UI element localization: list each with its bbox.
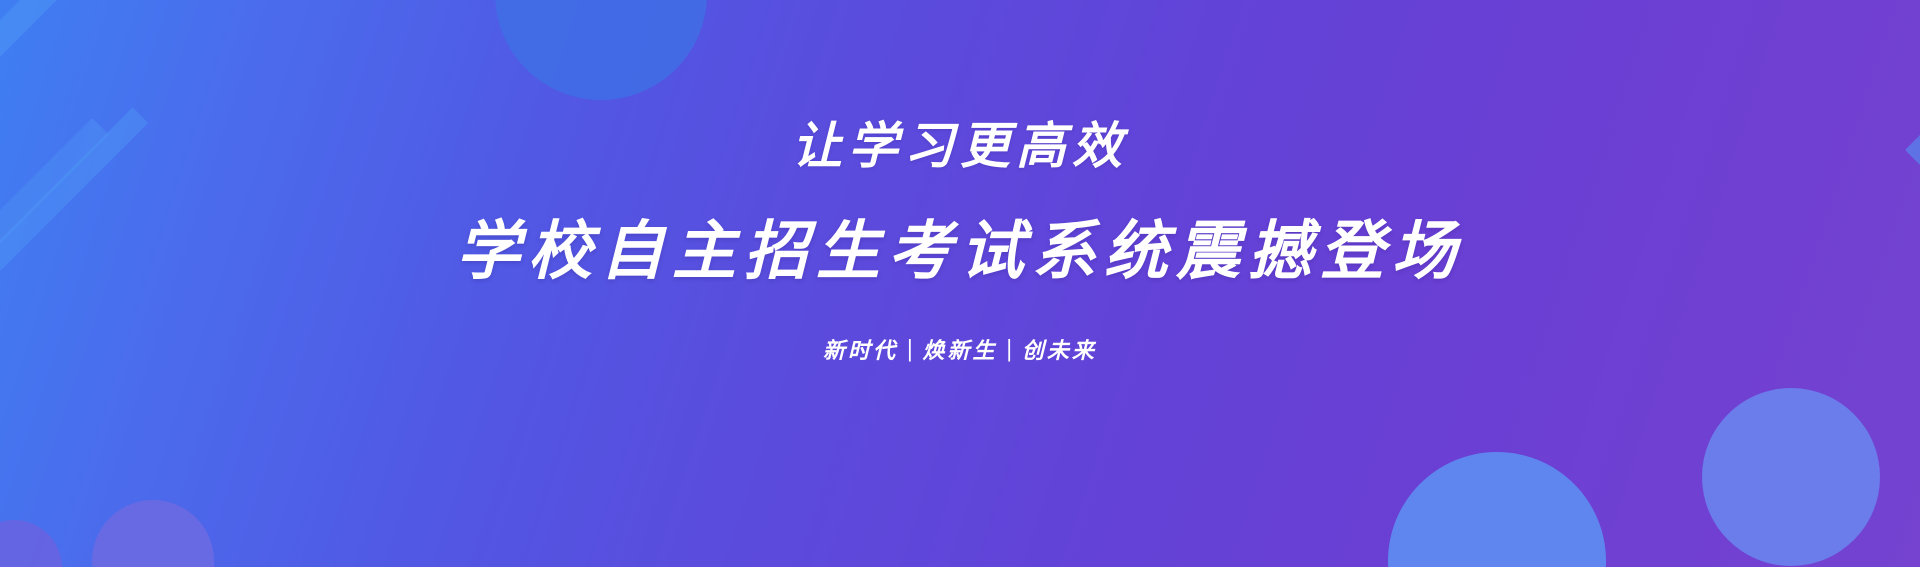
subtitle-part-2: 焕新生: [922, 333, 997, 365]
banner-headline: 让学习更高效: [792, 118, 1128, 173]
promo-banner: 让学习更高效 学校自主招生考试系统震撼登场 新时代 | 焕新生 | 创未来: [0, 0, 1920, 567]
subtitle-separator-2: |: [1006, 337, 1016, 362]
subtitle-part-3: 创未来: [1022, 333, 1097, 365]
banner-content: 让学习更高效 学校自主招生考试系统震撼登场 新时代 | 焕新生 | 创未来: [0, 0, 1920, 567]
subtitle-separator-1: |: [906, 337, 916, 362]
banner-subtitle: 新时代 | 焕新生 | 创未来: [823, 333, 1097, 365]
subtitle-part-1: 新时代: [823, 333, 898, 365]
banner-title: 学校自主招生考试系统震撼登场: [456, 217, 1464, 287]
